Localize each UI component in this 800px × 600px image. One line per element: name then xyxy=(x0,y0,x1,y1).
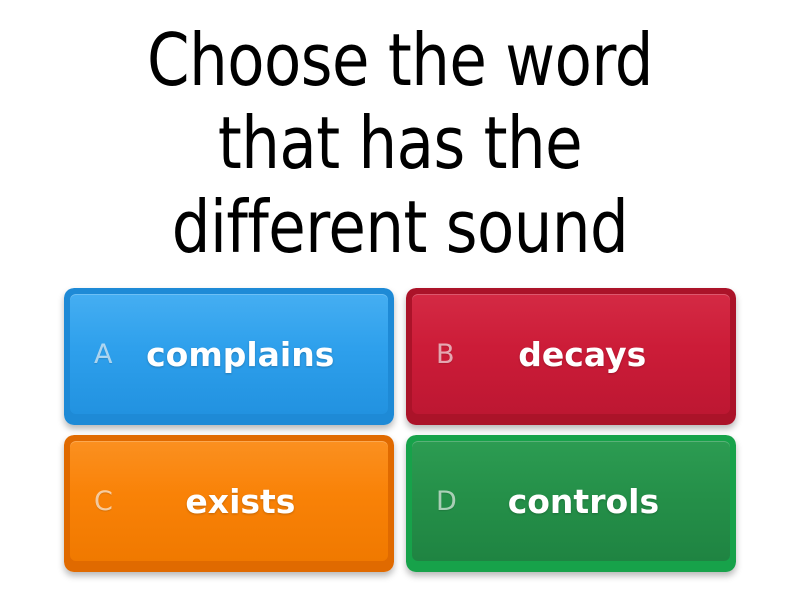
answer-option-c-letter: C xyxy=(94,488,113,515)
answer-option-a-label: complains xyxy=(112,338,380,371)
answer-option-a[interactable]: A complains xyxy=(64,288,394,425)
answer-option-d-content: D controls xyxy=(406,435,736,572)
answer-option-a-content: A complains xyxy=(64,288,394,425)
answer-option-b-label: decays xyxy=(455,338,722,371)
answer-option-a-letter: A xyxy=(94,341,112,368)
question-text: Choose the word that has the different s… xyxy=(90,19,710,270)
answer-option-c-content: C exists xyxy=(64,435,394,572)
answer-option-d[interactable]: D controls xyxy=(406,435,736,572)
answer-option-c[interactable]: C exists xyxy=(64,435,394,572)
answer-option-b-content: B decays xyxy=(406,288,736,425)
question-area: Choose the word that has the different s… xyxy=(0,0,800,288)
answer-options-grid: A complains B decays C exists D controls xyxy=(0,288,800,600)
quiz-stage: Choose the word that has the different s… xyxy=(0,0,800,600)
answer-option-b-letter: B xyxy=(436,341,455,368)
answer-option-d-letter: D xyxy=(436,488,457,515)
answer-option-b[interactable]: B decays xyxy=(406,288,736,425)
answer-option-c-label: exists xyxy=(113,485,380,518)
answer-option-d-label: controls xyxy=(457,485,722,518)
